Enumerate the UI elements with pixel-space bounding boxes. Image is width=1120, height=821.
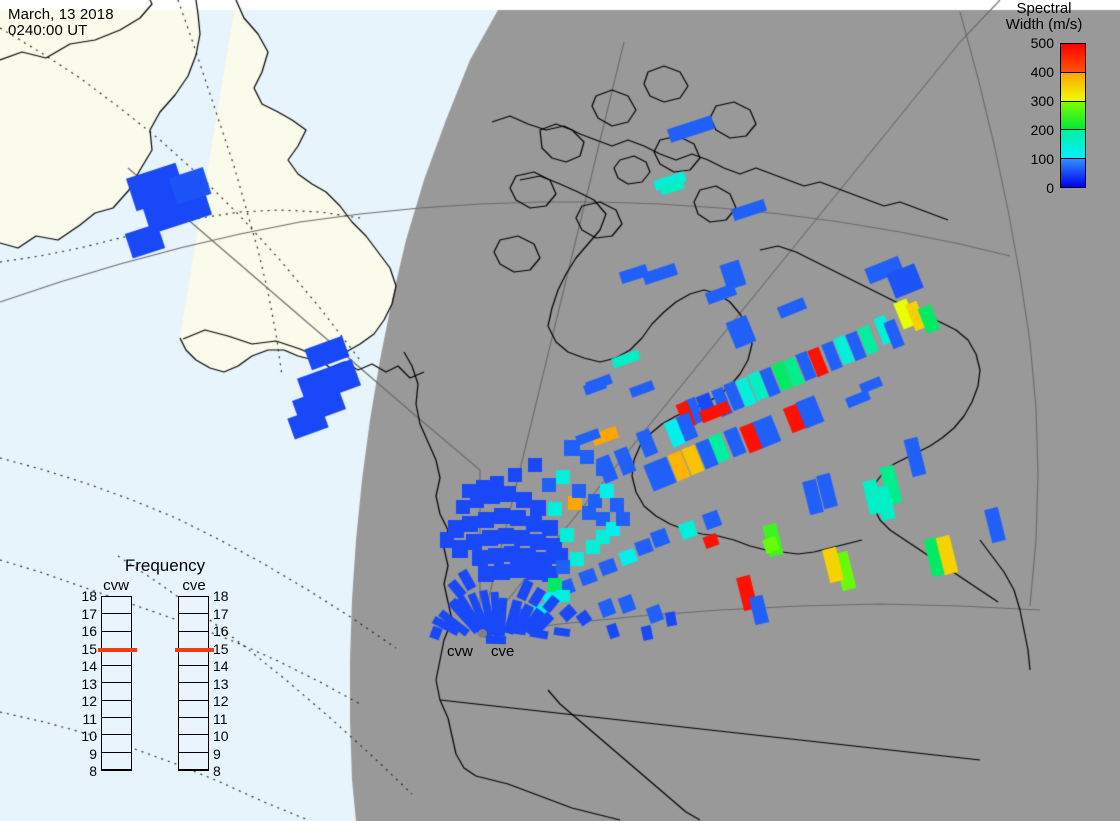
colorbar-tick-400: 400 xyxy=(998,64,1054,80)
frequency-tick-17: 17 xyxy=(75,606,97,622)
colorbar-tick-labels: 5004003002001000 xyxy=(998,35,1054,196)
frequency-tick-12: 12 xyxy=(75,693,97,709)
radar-site-marker xyxy=(478,629,487,638)
frequency-tick-17: 17 xyxy=(213,606,235,622)
frequency-tick-13: 13 xyxy=(213,676,235,692)
frequency-bar-cvw xyxy=(101,596,132,771)
frequency-segment xyxy=(102,735,131,752)
frequency-segment xyxy=(102,683,131,700)
frequency-tick-8: 8 xyxy=(213,763,235,779)
radar-site-label-cve: cve xyxy=(491,644,514,660)
frequency-tick-14: 14 xyxy=(213,658,235,674)
frequency-segment xyxy=(179,683,208,700)
frequency-tick-18: 18 xyxy=(75,588,97,604)
colorbar: Spectral Width (m/s) 5004003002001000 xyxy=(968,0,1120,203)
timestamp-date: March, 13 2018 xyxy=(8,6,114,23)
frequency-tick-9: 9 xyxy=(213,746,235,762)
frequency-marker-cve xyxy=(175,648,214,652)
colorbar-title: Spectral Width (m/s) xyxy=(968,0,1120,33)
frequency-bar-cve xyxy=(178,596,209,771)
colorbar-tick-100: 100 xyxy=(998,151,1054,167)
frequency-segment xyxy=(179,632,208,649)
frequency-column-cve: cve 18171615141312111098 xyxy=(163,577,225,594)
frequency-ticks-cve: 18171615141312111098 xyxy=(213,596,235,771)
colorbar-title-line1: Spectral xyxy=(1016,0,1071,17)
frequency-segment xyxy=(179,614,208,631)
frequency-tick-11: 11 xyxy=(213,711,235,727)
frequency-tick-11: 11 xyxy=(75,711,97,727)
colorbar-tick-0: 0 xyxy=(998,180,1054,196)
timestamp-time: 0240:00 UT xyxy=(8,22,87,39)
colorbar-gradient xyxy=(1060,43,1086,188)
frequency-segment xyxy=(179,701,208,718)
colorbar-tick-300: 300 xyxy=(998,93,1054,109)
frequency-tick-16: 16 xyxy=(75,623,97,639)
frequency-segment xyxy=(179,718,208,735)
frequency-tick-10: 10 xyxy=(75,728,97,744)
colorbar-tick-500: 500 xyxy=(998,35,1054,51)
frequency-segment xyxy=(179,753,208,770)
frequency-segment xyxy=(102,666,131,683)
colorbar-band-400-500 xyxy=(1061,44,1085,73)
frequency-segment xyxy=(179,597,208,614)
frequency-tick-14: 14 xyxy=(75,658,97,674)
frequency-segment xyxy=(179,666,208,683)
colorbar-tick-200: 200 xyxy=(998,122,1054,138)
colorbar-band-200-300 xyxy=(1061,102,1085,131)
radar-site-label-cvw: cvw xyxy=(447,644,473,660)
frequency-segment xyxy=(102,701,131,718)
frequency-segment xyxy=(179,735,208,752)
frequency-tick-15: 15 xyxy=(75,641,97,657)
frequency-segment xyxy=(102,597,131,614)
frequency-marker-cvw xyxy=(98,648,137,652)
frequency-column-cvw: cvw 18171615141312111098 xyxy=(85,577,147,594)
timestamp: March, 13 2018 0240:00 UT xyxy=(8,7,114,39)
colorbar-band-100-200 xyxy=(1061,130,1085,159)
frequency-segment xyxy=(102,632,131,649)
frequency-segment xyxy=(102,614,131,631)
frequency-tick-10: 10 xyxy=(213,728,235,744)
frequency-legend-title: Frequency xyxy=(85,556,245,575)
frequency-tick-16: 16 xyxy=(213,623,235,639)
frequency-tick-18: 18 xyxy=(213,588,235,604)
frequency-tick-8: 8 xyxy=(75,763,97,779)
colorbar-title-line2: Width (m/s) xyxy=(1006,16,1083,33)
frequency-tick-15: 15 xyxy=(213,641,235,657)
frequency-legend: Frequency cvw 18171615141312111098 cve 1… xyxy=(85,556,245,792)
frequency-bars: cvw 18171615141312111098 cve 18171615141… xyxy=(85,577,245,792)
frequency-segment xyxy=(102,718,131,735)
frequency-tick-13: 13 xyxy=(75,676,97,692)
frequency-tick-12: 12 xyxy=(213,693,235,709)
frequency-segment xyxy=(102,753,131,770)
frequency-ticks-cvw: 18171615141312111098 xyxy=(75,596,97,771)
colorbar-band-0-100 xyxy=(1061,159,1085,187)
frequency-tick-9: 9 xyxy=(75,746,97,762)
colorbar-band-300-400 xyxy=(1061,73,1085,102)
radar-map-screenshot: March, 13 2018 0240:00 UT Spectral Width… xyxy=(0,0,1120,821)
